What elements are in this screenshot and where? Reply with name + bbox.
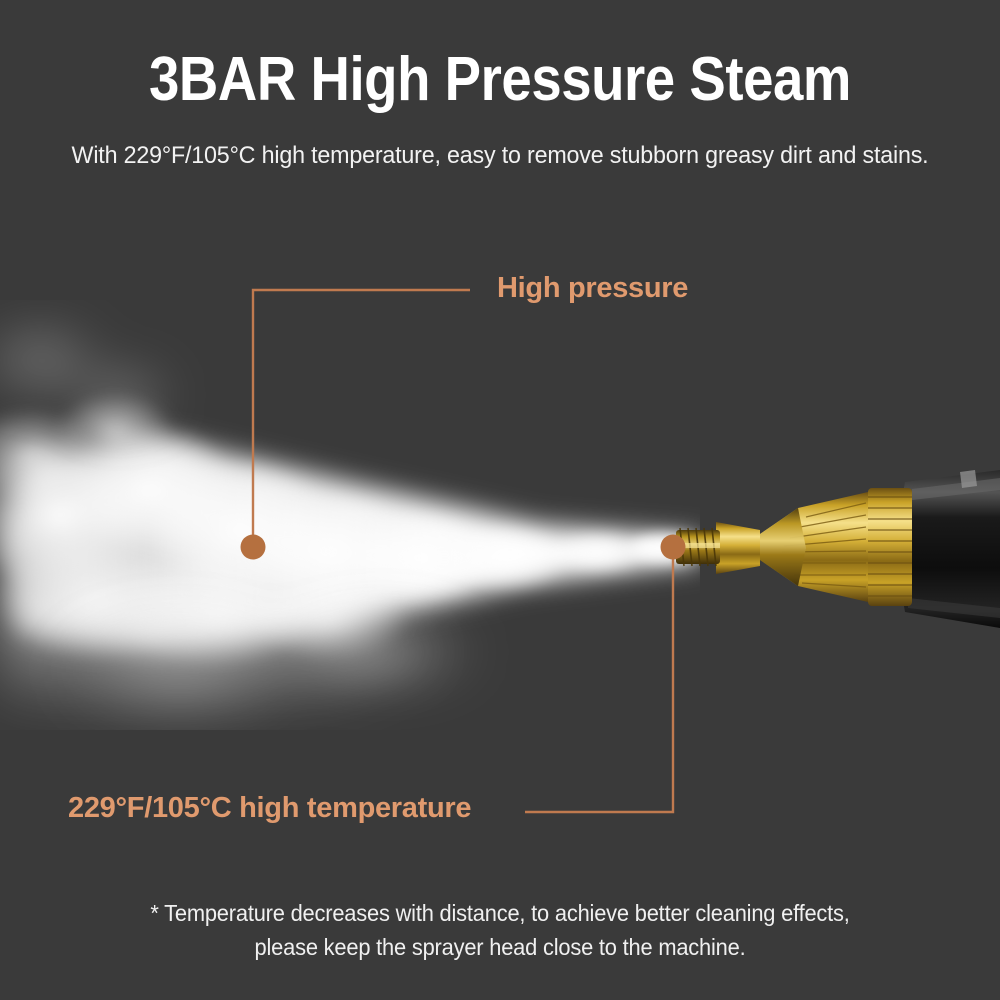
steam-plume-svg bbox=[0, 300, 700, 730]
callout-label-high-pressure: High pressure bbox=[497, 272, 688, 305]
product-feature-banner: 3BAR High Pressure Steam With 229°F/105°… bbox=[0, 0, 1000, 1000]
steam-plume bbox=[0, 300, 700, 730]
nozzle-cone bbox=[760, 492, 868, 602]
nozzle-collar bbox=[868, 488, 912, 606]
footnote-line-2: please keep the sprayer head close to th… bbox=[25, 930, 975, 964]
footnote-line-1: * Temperature decreases with distance, t… bbox=[25, 896, 975, 930]
sprayer-body bbox=[899, 470, 1000, 628]
nozzle-neck bbox=[716, 522, 760, 574]
page-title: 3BAR High Pressure Steam bbox=[60, 46, 940, 114]
callout-label-temperature: 229°F/105°C high temperature bbox=[68, 792, 471, 825]
page-subtitle: With 229°F/105°C high temperature, easy … bbox=[25, 140, 975, 172]
footnote: * Temperature decreases with distance, t… bbox=[25, 896, 975, 964]
